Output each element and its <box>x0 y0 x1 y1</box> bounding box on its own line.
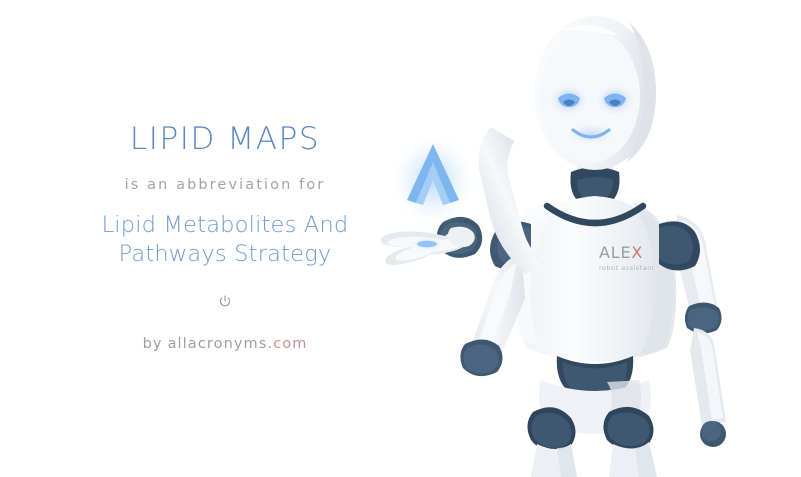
robot-chest-brand-text: ALEX <box>599 243 643 262</box>
acronym-definition-card: LIPID MAPS is an abbreviation for Lipid … <box>0 0 801 477</box>
robot-torso: ALEX robot assistant <box>507 196 677 362</box>
abbreviation-connector-text: is an abbreviation for <box>125 178 326 193</box>
attribution-line: byallacronyms.com <box>143 337 308 352</box>
acronym-expansion-text: Lipid Metabolites And Pathways Strategy <box>60 211 390 271</box>
page-title: LIPID MAPS <box>130 124 320 155</box>
attribution-site-name: allacronyms <box>168 336 268 352</box>
definition-text-panel: LIPID MAPS is an abbreviation for Lipid … <box>0 0 450 477</box>
attribution-by-label: by <box>143 336 163 352</box>
attribution-site-tld: .com <box>267 336 307 352</box>
robot-head <box>534 16 656 208</box>
power-icon <box>217 294 233 310</box>
robot-chest-tagline-text: robot assistant <box>599 264 655 272</box>
